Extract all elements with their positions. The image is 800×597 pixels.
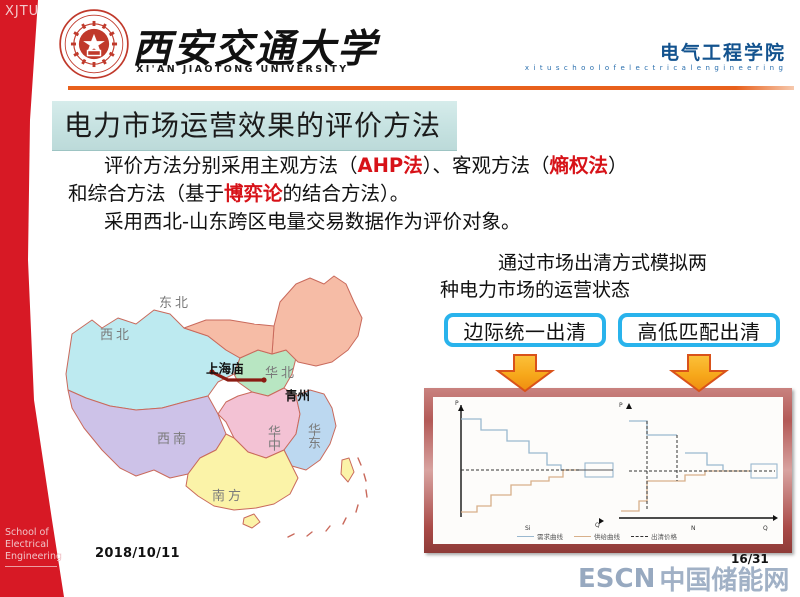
map-label-xibei: 西北 <box>100 324 132 343</box>
footer-school-line-1: School of <box>5 527 62 539</box>
map-label-huazhong: 华中 <box>263 425 282 451</box>
map-label-dongbei: 东北 <box>159 292 191 311</box>
clearing-box-marginal-label: 边际统一出清 <box>464 316 587 345</box>
footer-school-label: School of Electrical Engineering <box>5 527 62 567</box>
down-arrow-icon-right <box>668 353 730 393</box>
clearing-chart-canvas: P Si Q P <box>433 397 783 544</box>
chart-legend: 需求曲线 供给曲线 出清价格 <box>517 531 677 541</box>
chart-left-ylabel: P <box>455 400 459 407</box>
slide-canvas: XJTU School of Electrical Engineering <box>0 0 800 597</box>
map-city-shanghaimiao: 上海庙 <box>206 358 244 377</box>
map-label-xinan: 西南 <box>157 428 189 447</box>
clearing-box-highlow[interactable]: 高低匹配出清 <box>618 313 780 347</box>
body-line-1: 评价方法分别采用主观方法（AHP法）、客观方法（熵权法） <box>68 152 784 180</box>
simulation-note: 通过市场出清方式模拟两 种电力市场的运营状态 <box>440 250 790 304</box>
footer-school-line-2: Electrical <box>5 539 62 551</box>
page-title-text: 电力市场运营效果的评价方法 <box>64 109 441 142</box>
legend-label-supply: 供给曲线 <box>594 531 620 541</box>
chart-legend-item-demand: 需求曲线 <box>517 531 563 541</box>
legend-swatch-supply <box>574 536 591 537</box>
body-line-1-b: ）、客观方法（ <box>423 154 550 177</box>
body-line-3: 采用西北-山东跨区电量交易数据作为评价对象。 <box>68 208 784 236</box>
body-line-2: 和综合方法（基于博弈论的结合方法）。 <box>68 180 784 208</box>
chart-right-xlabel: Q <box>763 525 768 532</box>
slide-date: 2018/10/11 <box>95 546 180 561</box>
department-name-en: x i t u s c h o o l o f e l e c t r i c … <box>525 64 784 72</box>
university-seal-icon <box>58 8 130 80</box>
map-city-qingzhou: 青州 <box>285 385 310 404</box>
chart-right-xlabel-note: N <box>691 525 696 532</box>
body-highlight-game-theory: 博弈论 <box>224 182 283 205</box>
body-paragraph: 评价方法分别采用主观方法（AHP法）、客观方法（熵权法） 和综合方法（基于博弈论… <box>68 152 784 236</box>
note-line-1-text: 通过市场出清方式模拟两 <box>498 252 707 274</box>
page-title: 电力市场运营效果的评价方法 <box>52 101 457 151</box>
university-name-en: XI'AN JIAOTONG UNIVERSITY <box>136 64 349 75</box>
legend-label-clearing: 出清价格 <box>651 531 677 541</box>
map-label-huabei: 华北 <box>265 362 297 381</box>
body-line-1-a: 评价方法分别采用主观方法（ <box>104 154 358 177</box>
chart-right-ylabel: P <box>619 402 623 409</box>
body-line-2-b: 的结合方法）。 <box>283 182 410 205</box>
footer-divider <box>5 566 57 567</box>
clearing-box-marginal[interactable]: 边际统一出清 <box>444 313 606 347</box>
clearing-chart-svg: P Si Q P <box>433 397 783 544</box>
legend-label-demand: 需求曲线 <box>537 531 563 541</box>
chart-legend-item-clearing: 出清价格 <box>631 531 677 541</box>
note-line-1: 通过市场出清方式模拟两 <box>440 250 790 277</box>
clearing-chart-frame: P Si Q P <box>424 388 792 553</box>
china-region-map <box>58 262 458 542</box>
map-label-huadong: 华东 <box>303 423 322 449</box>
watermark-cn: 中国储能网 <box>659 560 789 597</box>
xjtu-tag: XJTU <box>5 4 39 19</box>
body-line-2-a: 和综合方法（基于 <box>68 182 224 205</box>
chart-marginal-uniform: P Si Q <box>455 400 613 532</box>
body-line-1-c: ） <box>608 154 628 177</box>
page-number: 16/31 <box>731 552 769 566</box>
department-name-cn: 电气工程学院 <box>660 38 786 65</box>
chart-highlow-matching: P N <box>619 402 778 532</box>
body-highlight-entropy: 熵权法 <box>550 154 609 177</box>
watermark-latin: ESCN <box>578 564 655 594</box>
legend-swatch-clearing <box>631 536 648 537</box>
clearing-box-highlow-label: 高低匹配出清 <box>638 316 761 345</box>
map-region-hainan <box>243 514 260 528</box>
map-region-taiwan <box>341 458 354 482</box>
legend-swatch-demand <box>517 536 534 537</box>
note-line-2: 种电力市场的运营状态 <box>440 277 790 304</box>
body-highlight-ahp: AHP法 <box>358 154 423 177</box>
chart-legend-item-supply: 供给曲线 <box>574 531 620 541</box>
map-label-nanfang: 南方 <box>212 485 244 504</box>
down-arrow-icon-left <box>494 353 556 393</box>
body-line-3-text: 采用西北-山东跨区电量交易数据作为评价对象。 <box>104 210 521 233</box>
slide-header: 西安交通大学 XI'AN JIAOTONG UNIVERSITY 电气工程学院 … <box>0 0 800 92</box>
footer-school-line-3: Engineering <box>5 551 62 563</box>
header-rule <box>68 86 794 90</box>
map-nine-dash-line <box>288 458 367 537</box>
